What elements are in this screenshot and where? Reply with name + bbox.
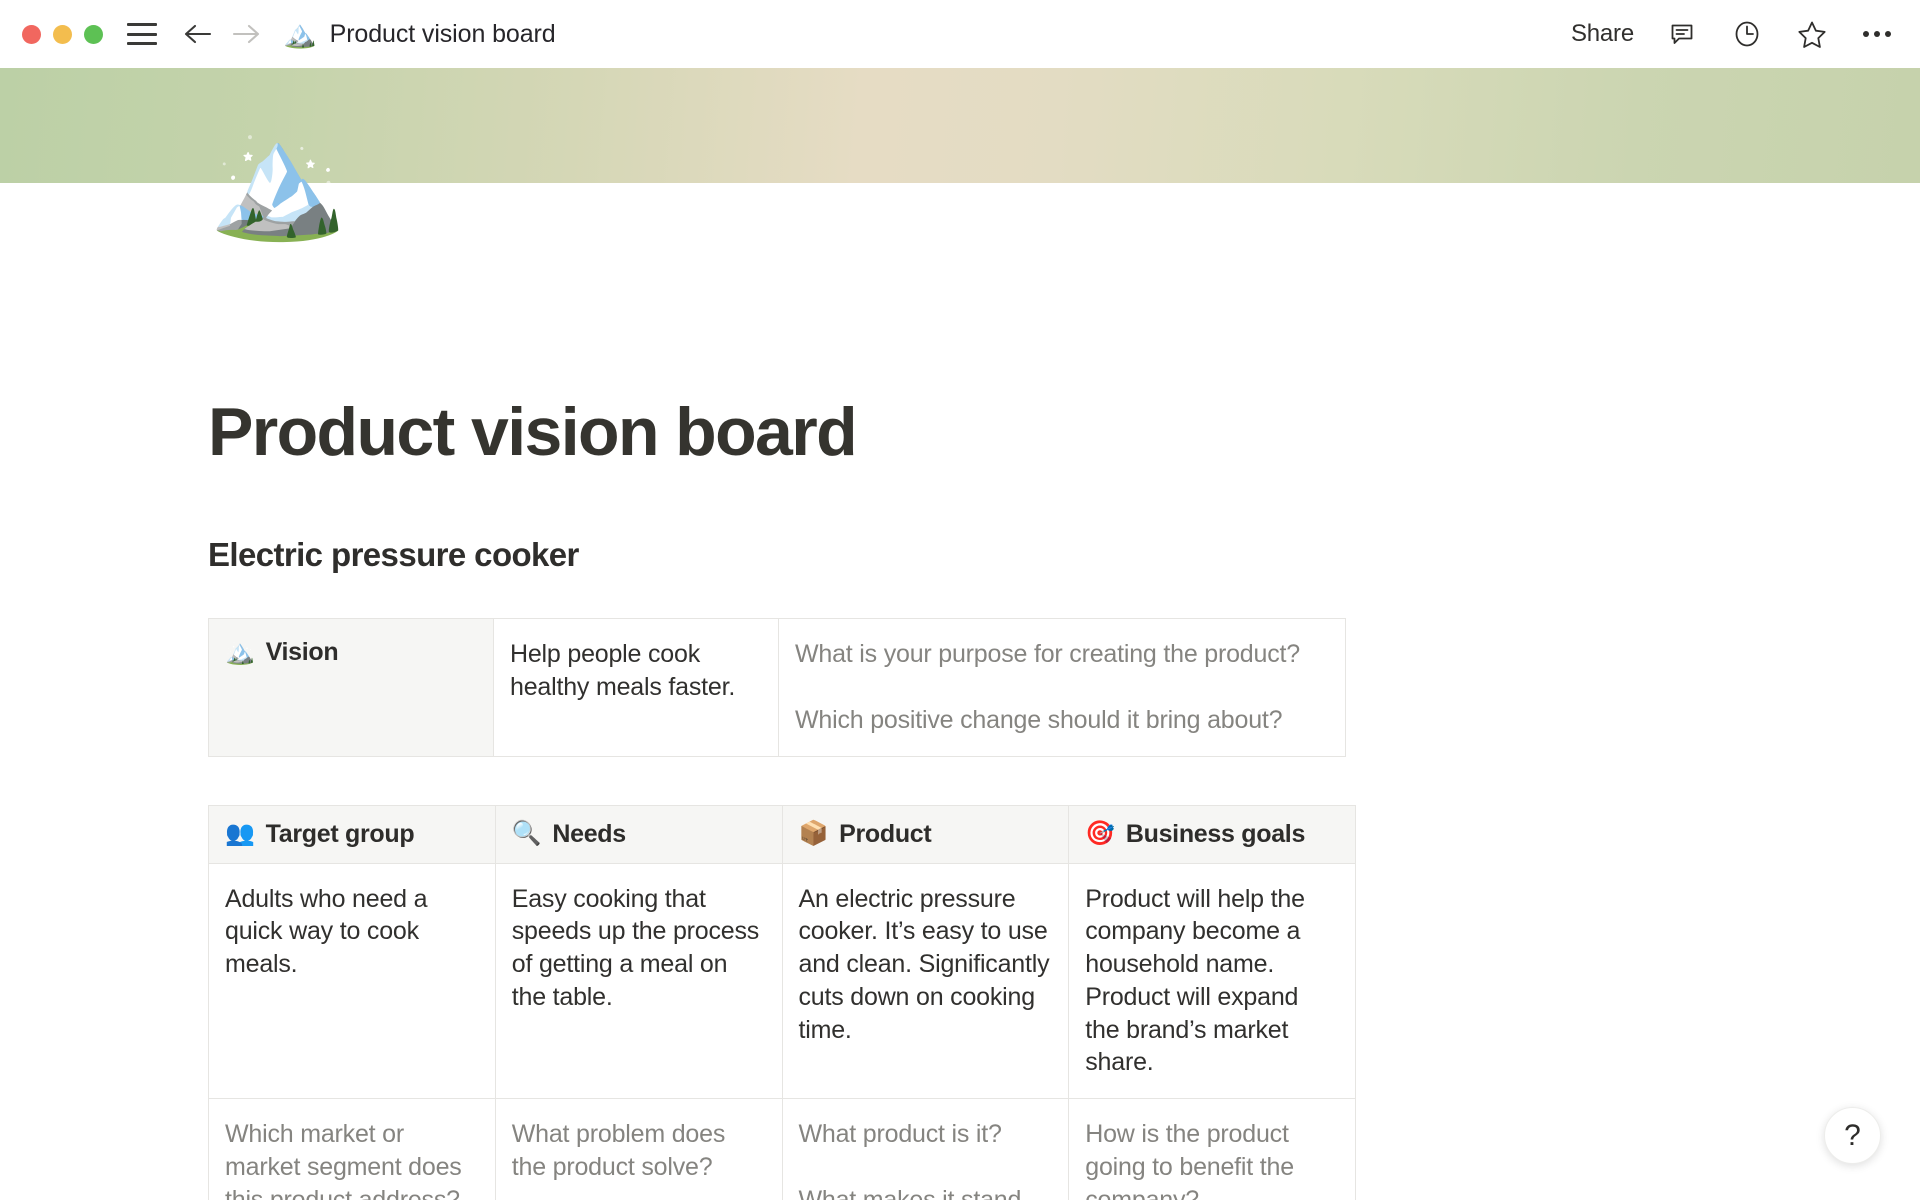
page-icon[interactable]: 🏔️ [208, 125, 347, 237]
cell-value: Easy cooking that speeds up the process … [512, 883, 765, 1014]
clock-icon[interactable] [1730, 17, 1764, 51]
table-header-row: 👥 Target group 🔍 Needs 📦 Product [209, 805, 1356, 863]
forward-arrow-icon[interactable] [231, 19, 261, 49]
window-controls [22, 25, 103, 44]
column-label: Target group [266, 820, 415, 849]
package-icon: 📦 [799, 822, 829, 846]
page-title[interactable]: Product vision board [208, 183, 1920, 471]
title-bar: 🏔️ Product vision board Share [0, 0, 1920, 68]
vision-hint-2: Which positive change should it bring ab… [795, 704, 1328, 737]
star-icon[interactable] [1795, 17, 1829, 51]
cell-hint: What product is it? [799, 1118, 1052, 1151]
cell-business-goals-hint[interactable]: How is the product going to benefit the … [1069, 1099, 1356, 1200]
minimize-window-button[interactable] [53, 25, 72, 44]
cell-needs-value[interactable]: Easy cooking that speeds up the process … [495, 863, 782, 1099]
vision-value: Help people cook healthy meals faster. [510, 638, 761, 704]
more-icon[interactable] [1860, 17, 1894, 51]
breadcrumb[interactable]: 🏔️ Product vision board [283, 20, 556, 49]
column-header-needs[interactable]: 🔍 Needs [495, 805, 782, 863]
column-label: Needs [552, 820, 626, 849]
column-label: Product [839, 820, 931, 849]
cell-target-group-hint[interactable]: Which market or market segment does this… [209, 1099, 496, 1200]
vision-table: 🏔️ Vision Help people cook healthy meals… [208, 618, 1346, 757]
comment-icon[interactable] [1665, 17, 1699, 51]
vision-label: Vision [266, 638, 339, 667]
column-header-target-group[interactable]: 👥 Target group [209, 805, 496, 863]
table-row: 🏔️ Vision Help people cook healthy meals… [209, 619, 1346, 757]
close-window-button[interactable] [22, 25, 41, 44]
cell-product-value[interactable]: An electric pressure cooker. It’s easy t… [782, 863, 1069, 1099]
help-button[interactable]: ? [1824, 1107, 1881, 1164]
vision-hint-cell[interactable]: What is your purpose for creating the pr… [779, 619, 1346, 757]
page-body: 🏔️ Product vision board Electric pressur… [0, 183, 1920, 1200]
cell-hint-2: What makes it stand [799, 1184, 1052, 1200]
people-icon: 👥 [225, 822, 255, 846]
cell-target-group-value[interactable]: Adults who need a quick way to cook meal… [209, 863, 496, 1099]
column-header-product[interactable]: 📦 Product [782, 805, 1069, 863]
titlebar-actions: Share [1571, 17, 1894, 51]
target-icon: 🎯 [1085, 822, 1115, 846]
cell-hint: How is the product going to benefit the … [1085, 1118, 1338, 1200]
column-label: Business goals [1126, 820, 1305, 849]
hamburger-icon[interactable] [127, 23, 157, 45]
mountain-icon: 🏔️ [283, 21, 317, 48]
table-row: Which market or market segment does this… [209, 1099, 1356, 1200]
cell-value: Product will help the company become a h… [1085, 883, 1338, 1080]
mountain-icon: 🏔️ [225, 641, 255, 665]
question-mark-icon: ? [1844, 1119, 1861, 1153]
breadcrumb-title: Product vision board [330, 20, 556, 49]
cell-needs-hint[interactable]: What problem does the product solve? [495, 1099, 782, 1200]
table-row: Adults who need a quick way to cook meal… [209, 863, 1356, 1099]
page-subtitle[interactable]: Electric pressure cooker [208, 536, 1920, 574]
cell-value: Adults who need a quick way to cook meal… [225, 883, 478, 981]
maximize-window-button[interactable] [84, 25, 103, 44]
vision-value-cell[interactable]: Help people cook healthy meals faster. [494, 619, 779, 757]
cell-hint: Which market or market segment does this… [225, 1118, 478, 1200]
canvas-table: 👥 Target group 🔍 Needs 📦 Product [208, 805, 1356, 1200]
vision-header-cell[interactable]: 🏔️ Vision [209, 619, 494, 757]
cell-hint: What problem does the product solve? [512, 1118, 765, 1184]
column-header-business-goals[interactable]: 🎯 Business goals [1069, 805, 1356, 863]
cell-business-goals-value[interactable]: Product will help the company become a h… [1069, 863, 1356, 1099]
navigation-arrows [183, 19, 261, 49]
search-icon: 🔍 [512, 822, 542, 846]
back-arrow-icon[interactable] [183, 19, 213, 49]
cell-value: An electric pressure cooker. It’s easy t… [799, 883, 1052, 1047]
share-button[interactable]: Share [1571, 20, 1634, 48]
cell-product-hint[interactable]: What product is it? What makes it stand [782, 1099, 1069, 1200]
vision-hint-1: What is your purpose for creating the pr… [795, 638, 1328, 671]
